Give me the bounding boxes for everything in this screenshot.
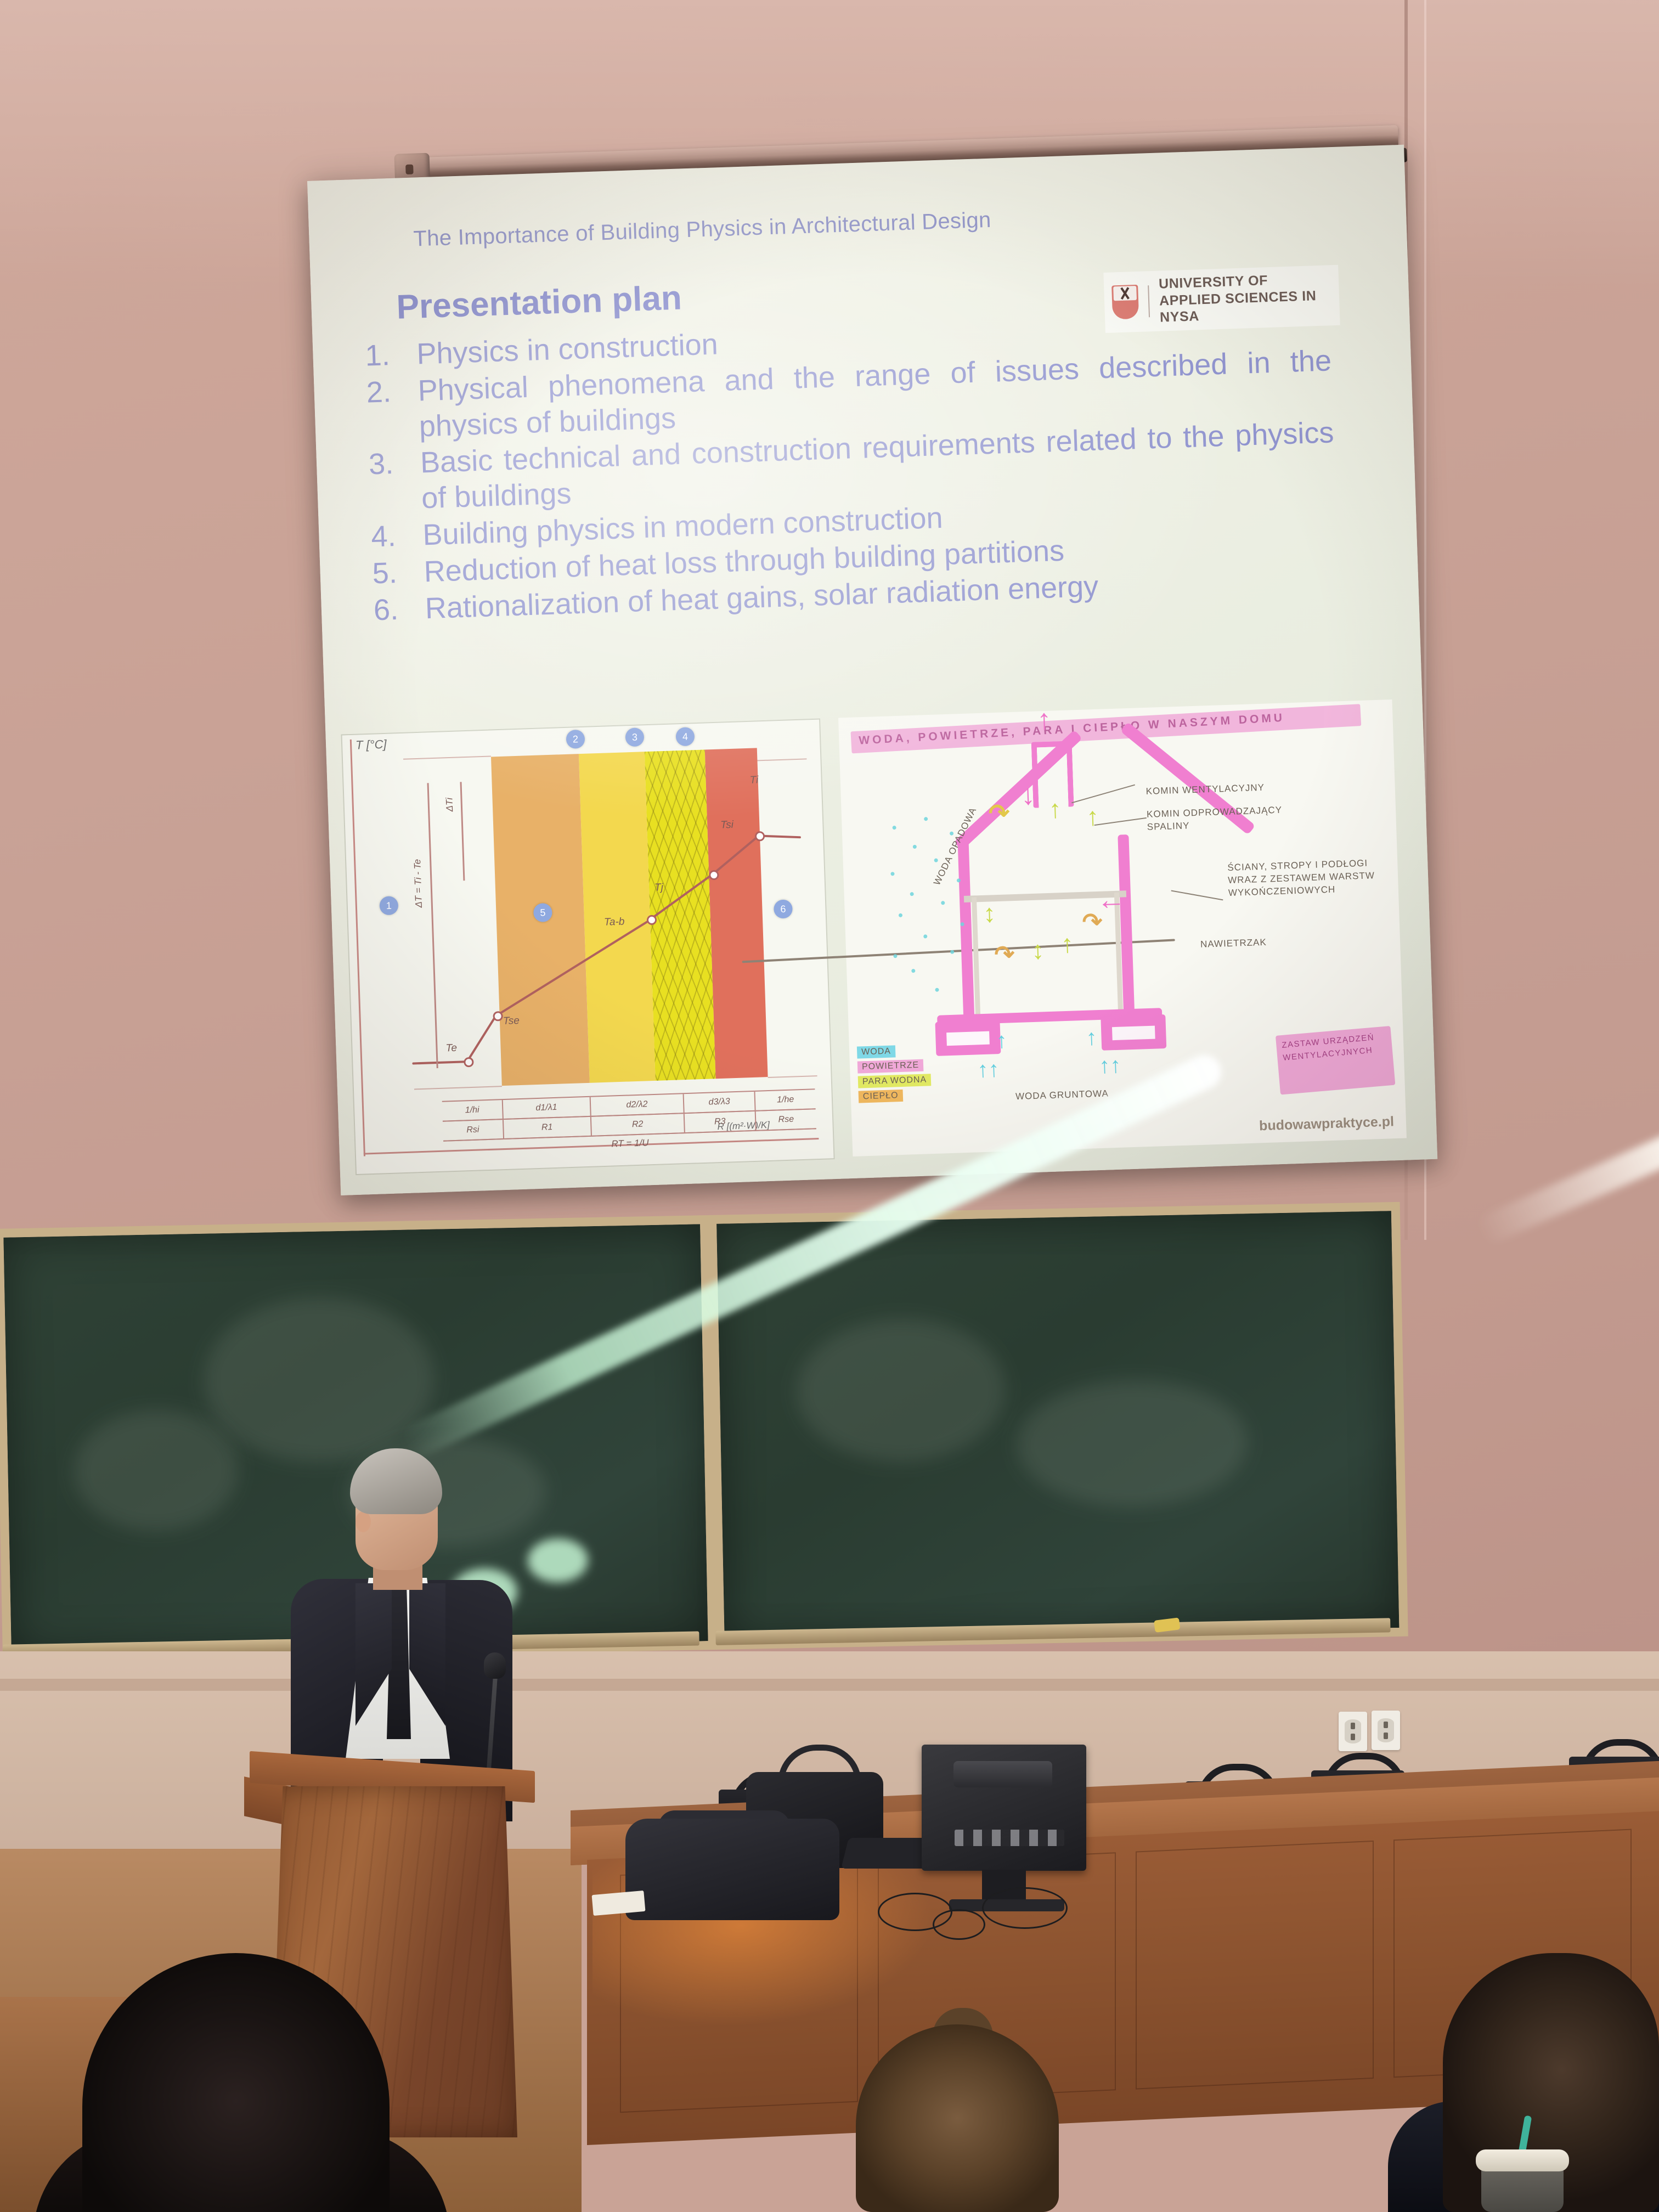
marker-circle: 2: [566, 730, 585, 749]
drink-cup-lid: [1476, 2149, 1569, 2171]
water-arrow-icon: ↑↑: [1099, 1054, 1121, 1077]
diagram-title-highlight: WODA, POWIETRZE, PARA I CIEPŁO W NASZYM …: [850, 704, 1361, 753]
y-axis-label: T [°C]: [356, 737, 387, 753]
point-label: Ti: [749, 774, 758, 787]
house-heat-moisture-diagram: WODA, POWIETRZE, PARA I CIEPŁO W NASZYM …: [838, 699, 1407, 1156]
cell: d1/λ1: [503, 1097, 591, 1119]
water-arrow-icon: ↑↑: [977, 1058, 1000, 1081]
heat-arrow-icon: ↷: [988, 800, 1010, 826]
list-item-number: 4.: [371, 518, 411, 555]
thermal-resistance-diagram: T [°C] R [(m²·W)/K]: [341, 719, 834, 1176]
vapour-arrow-icon: ↕: [983, 900, 996, 926]
wall-socket-left[interactable]: [1339, 1712, 1367, 1751]
legend-item: POWIETRZE: [857, 1059, 924, 1074]
profile-point: [755, 831, 765, 842]
monitor-ports: [955, 1830, 1064, 1846]
list-item-number: 6.: [373, 591, 414, 628]
note-air-inlet: NAWIETRZAK: [1200, 936, 1267, 951]
heat-arrow-icon: ↷: [1082, 910, 1103, 935]
microphone-head-icon: [484, 1652, 506, 1679]
point-label: Te: [445, 1042, 457, 1055]
cable-loop: [982, 1887, 1068, 1929]
water-arrow-icon: ↑: [1086, 1026, 1097, 1049]
groundwater-label: WODA GRUNTOWA: [1015, 1087, 1109, 1103]
air-arrow-up-icon: ↑: [1036, 706, 1052, 735]
y-axis: [350, 740, 365, 1156]
delta-t-label: ΔT = Ti - Te: [412, 859, 425, 908]
vapour-arrow-icon: ↕: [1031, 937, 1045, 963]
point-label: Tj: [654, 882, 664, 894]
footing-left: [935, 1020, 1001, 1056]
cell: 1/he: [755, 1090, 816, 1110]
lecture-hall-photo: The Importance of Building Physics in Ar…: [0, 0, 1659, 2212]
computer-monitor[interactable]: [922, 1745, 1086, 1887]
logo-divider: [1148, 285, 1150, 317]
cell: R1: [504, 1117, 592, 1138]
profile-point: [464, 1057, 474, 1068]
cell: d3/λ3: [684, 1092, 756, 1113]
wall-socket-right[interactable]: [1372, 1711, 1400, 1750]
point-label: Tse: [503, 1015, 520, 1028]
legend-item: PARA WODNA: [858, 1074, 932, 1088]
wall-left: [957, 840, 974, 1021]
heat-arrow-icon: ↑: [1086, 804, 1099, 830]
logo-text: UNIVERSITY OF APPLIED SCIENCES IN NYSA: [1159, 270, 1333, 326]
note-walls-floors: ŚCIANY, STROPY I PODŁOGI WRAZ Z ZESTAWEM…: [1227, 857, 1382, 900]
vapour-arrow-icon: ↑: [1060, 930, 1074, 956]
cell: R3: [685, 1111, 757, 1132]
marker-circle: 4: [675, 727, 695, 746]
point-label: Ta-b: [604, 916, 625, 929]
wall-layer-4: [705, 748, 768, 1079]
slide-title: Presentation plan: [396, 279, 682, 327]
diagram-stamp: ZASTAW URZĄDZEŃ WENTYLACYJNYCH: [1276, 1026, 1395, 1095]
note-chimney-flue: KOMIN ODPROWADZAJĄCY SPALINY: [1147, 803, 1312, 834]
point-label: Tsi: [720, 819, 733, 832]
list-item-number: 2.: [366, 374, 408, 446]
slide-header: The Importance of Building Physics in Ar…: [413, 208, 991, 252]
hair: [350, 1448, 442, 1514]
list-item-number: 5.: [372, 555, 413, 591]
water-arrow-icon: ↑: [996, 1030, 1007, 1052]
projection-screen-assembly: The Importance of Building Physics in Ar…: [307, 144, 1443, 1206]
nysa-crest-icon: [1111, 285, 1139, 320]
presentation-plan-list: 1. Physics in construction 2. Physical p…: [365, 306, 1340, 629]
university-logo: UNIVERSITY OF APPLIED SCIENCES IN NYSA: [1103, 265, 1340, 333]
air-arrow-down-icon: ↓: [1020, 781, 1036, 810]
cell: d2/λ2: [590, 1094, 684, 1116]
cell: Rsi: [443, 1120, 504, 1141]
monitor-vent: [953, 1761, 1052, 1787]
cell: R2: [591, 1114, 685, 1136]
heat-arrow-icon: ↷: [994, 943, 1015, 967]
legend-item: CIEPŁO: [859, 1090, 903, 1103]
cell: Rse: [756, 1109, 816, 1130]
diagram-legend: WODA POWIETRZE PARA WODNA CIEPŁO: [857, 1044, 932, 1105]
cable-loop: [933, 1909, 985, 1940]
projection-screen: The Importance of Building Physics in Ar…: [307, 145, 1437, 1195]
cell: 1/hi: [442, 1100, 504, 1121]
list-item-number: 1.: [365, 337, 405, 374]
diagram-watermark: budowawpraktyce.pl: [1259, 1114, 1395, 1134]
wall-dado-line: [0, 1679, 1659, 1691]
marker-circle: 3: [625, 727, 644, 747]
ear: [356, 1511, 371, 1532]
marker-circle: 6: [774, 899, 793, 918]
footing-right: [1101, 1014, 1166, 1051]
heat-arrow-icon: ↑: [1048, 796, 1062, 822]
black-backpack[interactable]: [625, 1819, 839, 1920]
chalkboard-assembly: [0, 1202, 1397, 1723]
marker-circle: 1: [379, 896, 398, 915]
list-item-number: 3.: [368, 446, 410, 518]
logo-line-2: APPLIED SCIENCES IN NYSA: [1159, 287, 1333, 326]
delta-ti-label: ΔTi: [444, 798, 455, 812]
legend-item: WODA: [857, 1045, 895, 1058]
